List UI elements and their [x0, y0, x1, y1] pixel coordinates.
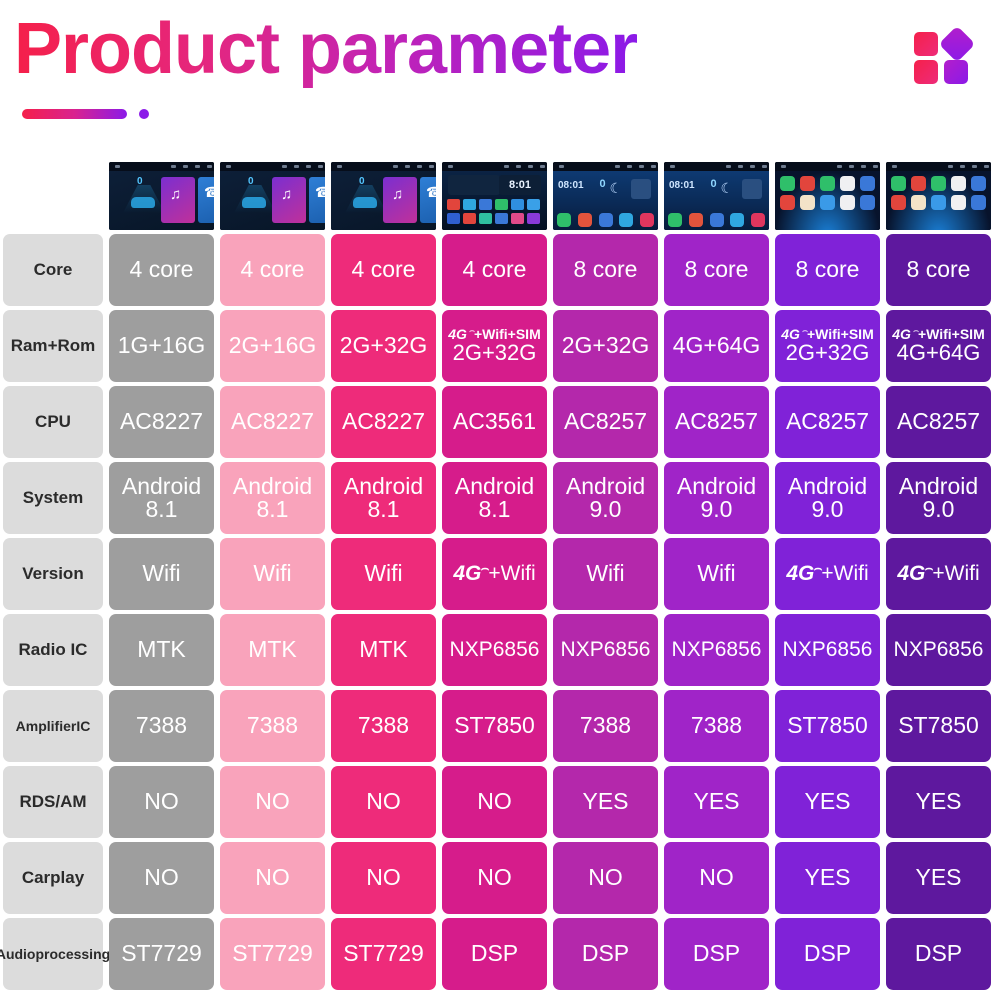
ram-value: 4G+64G [897, 342, 981, 364]
thumbnail-cell-col-7[interactable] [772, 160, 883, 232]
cell-carplay-col1: NO [109, 842, 214, 914]
cell-value: 7388 [247, 714, 298, 737]
cell-col-6: YES [661, 764, 772, 840]
row-label-col: AmplifierIC [0, 688, 106, 764]
thumb-dock-icon [640, 213, 654, 227]
signal-wave-icon: ⌢ [469, 326, 475, 335]
cell-cpu-col1: AC8227 [109, 386, 214, 458]
cell-cpu-col6: AC8257 [664, 386, 769, 458]
cell-col-1: NO [106, 764, 217, 840]
cell-col-4: 4 core [439, 232, 550, 308]
cell-value: YES [915, 790, 961, 813]
product-thumbnail-4[interactable]: 8:01 [442, 162, 547, 230]
cell-value: 7388 [691, 714, 742, 737]
cell-col-8: ST7850 [883, 688, 994, 764]
cell-col-1: 4 core [106, 232, 217, 308]
row-label-rds-am: RDS/AM [3, 766, 103, 838]
cell-value: YES [693, 790, 739, 813]
thumb-dock-icon [619, 213, 633, 227]
thumb-dock-icon [557, 213, 571, 227]
row-label-version: Version [3, 538, 103, 610]
cell-audio-processing-col5: DSP [553, 918, 658, 990]
row-label-radio-ic: Radio IC [3, 614, 103, 686]
cell-value: NO [144, 866, 179, 889]
cell-col-5: DSP [550, 916, 661, 992]
thumb-art-night-home: 08:010☾ [553, 171, 658, 230]
4g-glyph: 4G⌢ [897, 563, 932, 584]
cell-col-5: 8 core [550, 232, 661, 308]
cell-col-3: ST7729 [328, 916, 439, 992]
thumb-dock-icon [599, 213, 613, 227]
cell-value: Wifi [697, 562, 735, 585]
thumb-carplay-icon [820, 176, 835, 191]
thumb-app-icon [511, 213, 524, 224]
thumb-art-carplay [886, 171, 991, 230]
cell-rds-am-col2: NO [220, 766, 325, 838]
thumb-status-bar [109, 162, 214, 171]
logo-square-bottom-left [914, 60, 938, 84]
parameter-table: 0008:0108:010☾08:010☾ Core4 core4 core4 … [0, 160, 1000, 992]
cell-ram-rom-col4: 4G⌢+Wifi+SIM2G+32G [442, 310, 547, 382]
cell-value: 7388 [358, 714, 409, 737]
row-label-col: System [0, 460, 106, 536]
cell-col-1: Android8.1 [106, 460, 217, 536]
thumb-app-icon [511, 199, 524, 210]
cell-audio-processing-col1: ST7729 [109, 918, 214, 990]
cell-value: AC8257 [675, 410, 758, 433]
cell-col-6: Wifi [661, 536, 772, 612]
table-row: Core4 core4 core4 core4 core8 core8 core… [0, 232, 1000, 308]
thumb-carplay-icon [911, 195, 926, 210]
cell-carplay-col8: YES [886, 842, 991, 914]
cell-amplifier-ic-col2: 7388 [220, 690, 325, 762]
ram-value: 2G+32G [453, 342, 537, 364]
thumb-carplay-icon [931, 195, 946, 210]
cell-value: 4 core [241, 258, 305, 281]
cell-radio-ic-col8: NXP6856 [886, 614, 991, 686]
thumb-app-icon [479, 199, 492, 210]
cell-carplay-col2: NO [220, 842, 325, 914]
cell-rds-am-col1: NO [109, 766, 214, 838]
cell-ram-rom-col3: 2G+32G [331, 310, 436, 382]
table-row: VersionWifiWifiWifi4G⌢+WifiWifiWifi4G⌢+W… [0, 536, 1000, 612]
cell-col-2: Android8.1 [217, 460, 328, 536]
row-label-system: System [3, 462, 103, 534]
cell-value: ST7729 [343, 942, 424, 965]
product-thumbnail-row: 0008:0108:010☾08:010☾ [0, 160, 1000, 232]
cell-value: 4 core [130, 258, 194, 281]
cell-ram-rom-col1: 1G+16G [109, 310, 214, 382]
cell-radio-ic-col6: NXP6856 [664, 614, 769, 686]
cell-value: AC8257 [564, 410, 647, 433]
cell-col-2: NO [217, 764, 328, 840]
thumb-carplay-icon [840, 195, 855, 210]
cell-col-3: AC8227 [328, 384, 439, 460]
cell-col-2: MTK [217, 612, 328, 688]
cell-system-col8: Android9.0 [886, 462, 991, 534]
cell-value: DSP [693, 942, 740, 965]
signal-wave-icon: ⌢ [913, 326, 919, 335]
product-thumbnail-3[interactable]: 0 [331, 162, 436, 230]
cell-ram-rom-col5: 2G+32G [553, 310, 658, 382]
cell-value: YES [582, 790, 628, 813]
cell-value: MTK [248, 638, 297, 661]
cell-radio-ic-col2: MTK [220, 614, 325, 686]
signal-wave-icon: ⌢ [481, 561, 490, 574]
cell-value: ST7850 [454, 714, 535, 737]
cell-col-8: 8 core [883, 232, 994, 308]
cell-radio-ic-col5: NXP6856 [553, 614, 658, 686]
row-label-col: CPU [0, 384, 106, 460]
cell-col-5: NO [550, 840, 661, 916]
cell-value: AC8227 [231, 410, 314, 433]
thumbnail-cell-col-5[interactable]: 08:010☾ [550, 160, 661, 232]
cell-col-6: 8 core [661, 232, 772, 308]
title-underline-group [22, 109, 149, 119]
table-row: CPUAC8227AC8227AC8227AC3561AC8257AC8257A… [0, 384, 1000, 460]
cell-col-1: 7388 [106, 688, 217, 764]
thumb-app-icon [463, 199, 476, 210]
cell-cpu-col3: AC8227 [331, 386, 436, 458]
thumb-app-icon [447, 213, 460, 224]
cell-col-6: DSP [661, 916, 772, 992]
thumb-carplay-icon [840, 176, 855, 191]
thumb-app-icon [495, 213, 508, 224]
cell-col-1: MTK [106, 612, 217, 688]
thumb-status-bar [775, 162, 880, 171]
cell-col-8: AC8257 [883, 384, 994, 460]
thumb-carplay-icon [951, 176, 966, 191]
version-value: 4G⌢+Wifi [897, 563, 979, 584]
thumb-status-bar [331, 162, 436, 171]
version-value: 4G⌢+Wifi [786, 563, 868, 584]
cell-rds-am-col5: YES [553, 766, 658, 838]
cell-system-col7: Android9.0 [775, 462, 880, 534]
cell-core-col4: 4 core [442, 234, 547, 306]
cell-version-col1: Wifi [109, 538, 214, 610]
cell-system-col1: Android8.1 [109, 462, 214, 534]
cell-col-8: Android9.0 [883, 460, 994, 536]
thumb-carplay-icon [911, 176, 926, 191]
4g-glyph: 4G⌢ [453, 563, 488, 584]
cell-col-1: NO [106, 840, 217, 916]
cell-value: DSP [915, 942, 962, 965]
cell-col-4: Android8.1 [439, 460, 550, 536]
cell-col-3: NO [328, 764, 439, 840]
row-label-col: RDS/AM [0, 764, 106, 840]
cell-value: 7388 [136, 714, 187, 737]
thumb-carplay-icon [971, 176, 986, 191]
cell-value: NO [366, 866, 401, 889]
cell-col-3: 2G+32G [328, 308, 439, 384]
row-label-col: Core [0, 232, 106, 308]
cell-audio-processing-col2: ST7729 [220, 918, 325, 990]
thumbnail-cell-col-2[interactable]: 0 [217, 160, 328, 232]
cell-col-6: NXP6856 [661, 612, 772, 688]
cell-system-col6: Android9.0 [664, 462, 769, 534]
cell-amplifier-ic-col6: 7388 [664, 690, 769, 762]
thumb-dock-icon [710, 213, 724, 227]
thumb-dock-icon [668, 213, 682, 227]
cell-value: YES [804, 866, 850, 889]
cell-value: NO [144, 790, 179, 813]
cell-col-7: 8 core [772, 232, 883, 308]
cell-audio-processing-col3: ST7729 [331, 918, 436, 990]
cell-col-5: Wifi [550, 536, 661, 612]
cell-system-col4: Android8.1 [442, 462, 547, 534]
cell-col-6: AC8257 [661, 384, 772, 460]
table-row: SystemAndroid8.1Android8.1Android8.1Andr… [0, 460, 1000, 536]
product-thumbnail-2[interactable]: 0 [220, 162, 325, 230]
cell-value: ST7729 [232, 942, 313, 965]
cell-value: MTK [359, 638, 408, 661]
thumb-carplay-icon [780, 195, 795, 210]
table-row: AmplifierIC738873887388ST785073887388ST7… [0, 688, 1000, 764]
cell-value: NO [255, 866, 290, 889]
thumb-status-bar [664, 162, 769, 171]
thumb-carplay-icon [860, 195, 875, 210]
cell-version-col4: 4G⌢+Wifi [442, 538, 547, 610]
cell-audio-processing-col6: DSP [664, 918, 769, 990]
cell-col-5: 2G+32G [550, 308, 661, 384]
cell-amplifier-ic-col5: 7388 [553, 690, 658, 762]
4g-glyph: 4G⌢ [781, 327, 807, 342]
cell-value: 2G+32G [340, 334, 428, 357]
thumb-art-night-home: 08:010☾ [664, 171, 769, 230]
cell-col-2: NO [217, 840, 328, 916]
cell-col-8: 4G⌢+Wifi+SIM4G+64G [883, 308, 994, 384]
thumb-app-icon [527, 199, 540, 210]
thumb-app-icon [495, 199, 508, 210]
4g-glyph: 4G⌢ [786, 563, 821, 584]
cell-system-col3: Android8.1 [331, 462, 436, 534]
cell-version-col3: Wifi [331, 538, 436, 610]
cell-amplifier-ic-col1: 7388 [109, 690, 214, 762]
cell-value: NXP6856 [450, 639, 540, 660]
cell-col-3: Wifi [328, 536, 439, 612]
logo-square-top-left [914, 32, 938, 56]
cell-ram-rom-col8: 4G⌢+Wifi+SIM4G+64G [886, 310, 991, 382]
product-thumbnail-1[interactable]: 0 [109, 162, 214, 230]
thumb-dock-icon [751, 213, 765, 227]
cell-value: YES [915, 866, 961, 889]
thumb-dock-icon [730, 213, 744, 227]
cell-cpu-col2: AC8227 [220, 386, 325, 458]
cell-col-6: 7388 [661, 688, 772, 764]
cell-value: YES [804, 790, 850, 813]
row-label-col: Carplay [0, 840, 106, 916]
row-label-col: Version [0, 536, 106, 612]
cell-col-7: NXP6856 [772, 612, 883, 688]
cell-radio-ic-col7: NXP6856 [775, 614, 880, 686]
cell-col-7: YES [772, 764, 883, 840]
row-label-amplifier-ic: AmplifierIC [3, 690, 103, 762]
cell-col-8: YES [883, 840, 994, 916]
row-label-carplay: Carplay [3, 842, 103, 914]
cell-col-2: 4 core [217, 232, 328, 308]
cell-radio-ic-col1: MTK [109, 614, 214, 686]
product-thumbnail-6[interactable]: 08:010☾ [664, 162, 769, 230]
cell-col-6: 4G+64G [661, 308, 772, 384]
cell-col-1: AC8227 [106, 384, 217, 460]
cell-rds-am-col7: YES [775, 766, 880, 838]
cell-ram-rom-col6: 4G+64G [664, 310, 769, 382]
thumb-carplay-icon [820, 195, 835, 210]
thumb-carplay-icon [891, 195, 906, 210]
cell-core-col5: 8 core [553, 234, 658, 306]
thumb-status-bar [442, 162, 547, 171]
cell-col-3: NO [328, 840, 439, 916]
cell-value: AC8257 [897, 410, 980, 433]
cell-core-col3: 4 core [331, 234, 436, 306]
table-row: AudioprocessingST7729ST7729ST7729DSPDSPD… [0, 916, 1000, 992]
cell-value: NXP6856 [672, 639, 762, 660]
cell-col-7: 4G⌢+Wifi+SIM2G+32G [772, 308, 883, 384]
product-thumbnail-8[interactable] [886, 162, 991, 230]
cell-col-7: AC8257 [772, 384, 883, 460]
title-underline-bar [22, 109, 127, 119]
cell-col-7: DSP [772, 916, 883, 992]
cell-col-7: 4G⌢+Wifi [772, 536, 883, 612]
thumb-app-icon [463, 213, 476, 224]
cell-col-2: Wifi [217, 536, 328, 612]
cell-col-4: NXP6856 [439, 612, 550, 688]
cell-core-col6: 8 core [664, 234, 769, 306]
row-label-cpu: CPU [3, 386, 103, 458]
cell-col-8: DSP [883, 916, 994, 992]
table-row: Radio ICMTKMTKMTKNXP6856NXP6856NXP6856NX… [0, 612, 1000, 688]
cell-rds-am-col4: NO [442, 766, 547, 838]
signal-wave-icon: ⌢ [925, 561, 934, 574]
cell-value: NO [477, 866, 512, 889]
thumb-carplay-icon [860, 176, 875, 191]
thumbnail-cell-col-8[interactable] [883, 160, 994, 232]
logo-diamond-top-right [939, 26, 976, 63]
cell-value: DSP [471, 942, 518, 965]
cell-value: 4 core [463, 258, 527, 281]
table-row: CarplayNONONONONONOYESYES [0, 840, 1000, 916]
cell-radio-ic-col4: NXP6856 [442, 614, 547, 686]
cell-value: Wifi [253, 562, 291, 585]
product-thumbnail-5[interactable]: 08:010☾ [553, 162, 658, 230]
thumb-carplay-icon [780, 176, 795, 191]
cell-col-2: 2G+16G [217, 308, 328, 384]
cell-carplay-col7: YES [775, 842, 880, 914]
brand-logo-icon [914, 22, 972, 82]
cell-carplay-col5: NO [553, 842, 658, 914]
cell-value: 8 core [685, 258, 749, 281]
cell-col-3: Android8.1 [328, 460, 439, 536]
thumb-status-bar [553, 162, 658, 171]
cell-cpu-col4: AC3561 [442, 386, 547, 458]
thumb-dock-icon [689, 213, 703, 227]
cell-radio-ic-col3: MTK [331, 614, 436, 686]
thumbnail-cell-col-3[interactable]: 0 [328, 160, 439, 232]
cell-value: 1G+16G [118, 334, 206, 357]
cell-value: DSP [804, 942, 851, 965]
thumb-carplay-icon [800, 195, 815, 210]
cell-audio-processing-col4: DSP [442, 918, 547, 990]
logo-square-bottom-right [944, 60, 968, 84]
cell-col-4: NO [439, 840, 550, 916]
cell-system-col2: Android8.1 [220, 462, 325, 534]
4g-glyph: 4G⌢ [448, 327, 474, 342]
cell-amplifier-ic-col3: 7388 [331, 690, 436, 762]
thumbnail-cell-col-1[interactable]: 0 [106, 160, 217, 232]
thumb-art-app-grid: 8:01 [442, 171, 547, 230]
cell-col-3: 4 core [328, 232, 439, 308]
cell-value: 8 core [796, 258, 860, 281]
cell-value: DSP [582, 942, 629, 965]
cell-value: NO [255, 790, 290, 813]
thumb-art-carplay [775, 171, 880, 230]
row-label-audio-processing: Audioprocessing [3, 918, 103, 990]
thumbnail-row-spacer [0, 160, 106, 232]
cell-value: MTK [137, 638, 186, 661]
thumb-carplay-icon [891, 176, 906, 191]
product-parameter-page: Product parameter 0008:0108:010☾08:010☾ … [0, 0, 1000, 1000]
thumb-status-bar [886, 162, 991, 171]
cell-col-5: 7388 [550, 688, 661, 764]
cell-version-col8: 4G⌢+Wifi [886, 538, 991, 610]
product-thumbnail-7[interactable] [775, 162, 880, 230]
cell-carplay-col6: NO [664, 842, 769, 914]
cell-value: NO [477, 790, 512, 813]
table-row: RDS/AMNONONONOYESYESYESYES [0, 764, 1000, 840]
thumb-art-car-radio: 0 [331, 171, 436, 230]
cell-value: NXP6856 [894, 639, 984, 660]
cell-value: AC3561 [453, 410, 536, 433]
cell-core-col8: 8 core [886, 234, 991, 306]
cell-col-3: 7388 [328, 688, 439, 764]
cell-col-1: Wifi [106, 536, 217, 612]
cell-col-1: ST7729 [106, 916, 217, 992]
page-title: Product parameter [14, 8, 637, 90]
cell-col-4: 4G⌢+Wifi+SIM2G+32G [439, 308, 550, 384]
cell-core-col7: 8 core [775, 234, 880, 306]
thumb-art-car-radio: 0 [109, 171, 214, 230]
cell-version-col2: Wifi [220, 538, 325, 610]
cell-col-4: AC3561 [439, 384, 550, 460]
cell-value: 2G+16G [229, 334, 317, 357]
cell-audio-processing-col7: DSP [775, 918, 880, 990]
ram-value: 2G+32G [786, 342, 870, 364]
thumb-app-icon [447, 199, 460, 210]
cell-version-col7: 4G⌢+Wifi [775, 538, 880, 610]
table-row: Ram+Rom1G+16G2G+16G2G+32G4G⌢+Wifi+SIM2G+… [0, 308, 1000, 384]
cell-core-col2: 4 core [220, 234, 325, 306]
cell-value: 4 core [352, 258, 416, 281]
cell-carplay-col3: NO [331, 842, 436, 914]
cell-col-5: YES [550, 764, 661, 840]
cell-cpu-col7: AC8257 [775, 386, 880, 458]
cell-value: 8 core [574, 258, 638, 281]
cell-version-col6: Wifi [664, 538, 769, 610]
thumb-carplay-icon [800, 176, 815, 191]
thumb-app-icon [479, 213, 492, 224]
cell-value: ST7729 [121, 942, 202, 965]
cell-amplifier-ic-col8: ST7850 [886, 690, 991, 762]
cell-value: ST7850 [787, 714, 868, 737]
cell-col-5: AC8257 [550, 384, 661, 460]
cell-col-6: NO [661, 840, 772, 916]
row-label-col: Radio IC [0, 612, 106, 688]
thumbnail-cell-col-4[interactable]: 8:01 [439, 160, 550, 232]
thumbnail-cell-col-6[interactable]: 08:010☾ [661, 160, 772, 232]
cell-col-5: NXP6856 [550, 612, 661, 688]
cell-value: Wifi [142, 562, 180, 585]
cell-value: NXP6856 [783, 639, 873, 660]
